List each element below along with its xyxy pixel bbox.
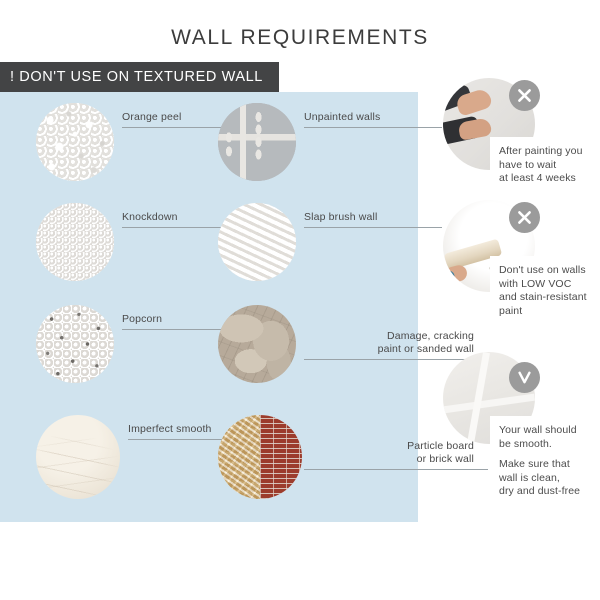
page-title: WALL REQUIREMENTS [0, 26, 600, 50]
texture-label-text: Knockdown [122, 211, 178, 223]
texture-knockdown-icon [36, 203, 114, 281]
check-icon [509, 362, 540, 393]
texture-unpainted-walls-icon [218, 103, 296, 181]
warning-banner: ! DON'T USE ON TEXTURED WALL [0, 62, 279, 92]
texture-orange-peel-icon [36, 103, 114, 181]
texture-slap-brush-icon [218, 203, 296, 281]
infographic-page: WALL REQUIREMENTS ! DON'T USE ON TEXTURE… [0, 0, 600, 600]
tip-text-card: Your wall should be smooth. Make sure th… [490, 416, 600, 502]
texture-label-text: Imperfect smooth [128, 423, 212, 435]
warning-banner-label: ! DON'T USE ON TEXTURED WALL [10, 69, 263, 85]
tip-text: Make sure that wall is clean, dry and du… [499, 458, 591, 499]
texture-label: Slap brush wall [304, 211, 432, 228]
texture-imperfect-smooth-icon [36, 415, 120, 499]
tip-card-low-voc-paint: Don't use on walls with LOW VOC and stai… [443, 200, 600, 318]
tip-text: Your wall should be smooth. [499, 424, 591, 451]
texture-label-text: Unpainted walls [304, 111, 380, 123]
texture-item-unpainted-walls: Unpainted walls [218, 103, 433, 181]
texture-item-damage-cracking: Damage, cracking paint or sanded wall [218, 305, 433, 383]
texture-label-text: Orange peel [122, 111, 181, 123]
texture-label-text: Popcorn [122, 313, 162, 325]
label-underline [304, 227, 442, 228]
tip-text-card: After painting you have to wait at least… [490, 137, 600, 188]
texture-item-particle-brick-wall: Particle board or brick wall [218, 415, 433, 503]
texture-damage-cracking-icon [218, 305, 296, 383]
texture-item-slap-brush-wall: Slap brush wall [218, 203, 433, 281]
texture-popcorn-icon [36, 305, 114, 383]
texture-label: Unpainted walls [304, 111, 432, 128]
x-icon [509, 80, 540, 111]
texture-particle-brick-icon [218, 415, 302, 499]
tip-text-card: Don't use on walls with LOW VOC and stai… [490, 256, 600, 318]
tip-text: After painting you have to wait at least… [499, 145, 591, 186]
texture-label-text: Slap brush wall [304, 211, 377, 223]
label-underline [304, 127, 442, 128]
x-icon [509, 202, 540, 233]
tip-card-smooth-clean-wall: Your wall should be smooth. Make sure th… [443, 352, 600, 502]
tip-text: Don't use on walls with LOW VOC and stai… [499, 264, 591, 318]
tip-card-wait-4-weeks: After painting you have to wait at least… [443, 78, 600, 190]
